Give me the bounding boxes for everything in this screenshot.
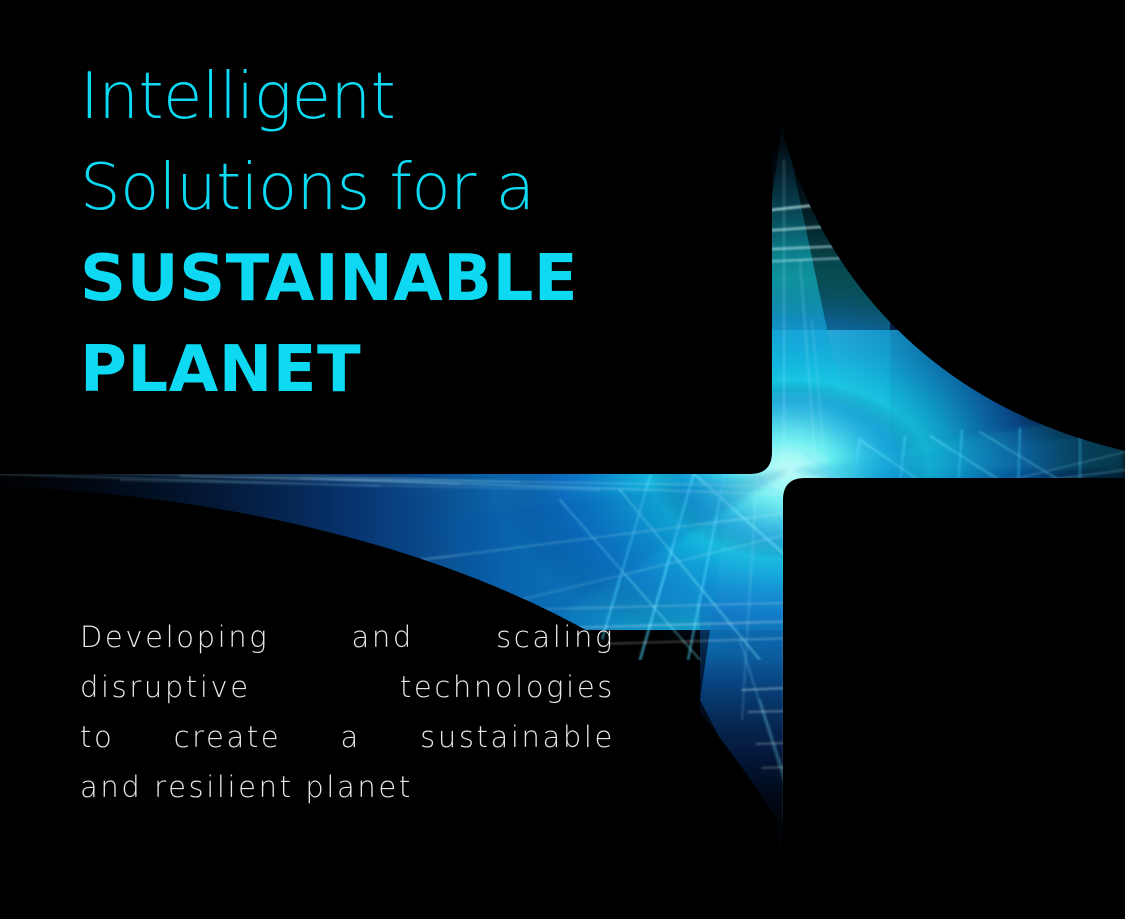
page-subtext: Developing and scaling disruptive techno… xyxy=(80,612,615,812)
headline-line-1: Intelligent xyxy=(80,52,680,143)
subtext-line-1: Developing and scaling xyxy=(80,612,615,662)
subtext-line-3: to create a sustainable xyxy=(80,712,615,762)
panel-bottom-right xyxy=(783,478,1125,919)
subtext-line-4: and resilient planet xyxy=(80,762,615,812)
page-headline: Intelligent Solutions for a SUSTAINABLE … xyxy=(80,52,680,416)
headline-line-3: SUSTAINABLE xyxy=(80,234,680,325)
panel-top-right xyxy=(783,0,1125,455)
headline-line-2: Solutions for a xyxy=(80,143,680,234)
poster-canvas: Intelligent Solutions for a SUSTAINABLE … xyxy=(0,0,1125,919)
subtext-line-2: disruptive technologies xyxy=(80,662,615,712)
headline-line-4: PLANET xyxy=(80,325,680,416)
